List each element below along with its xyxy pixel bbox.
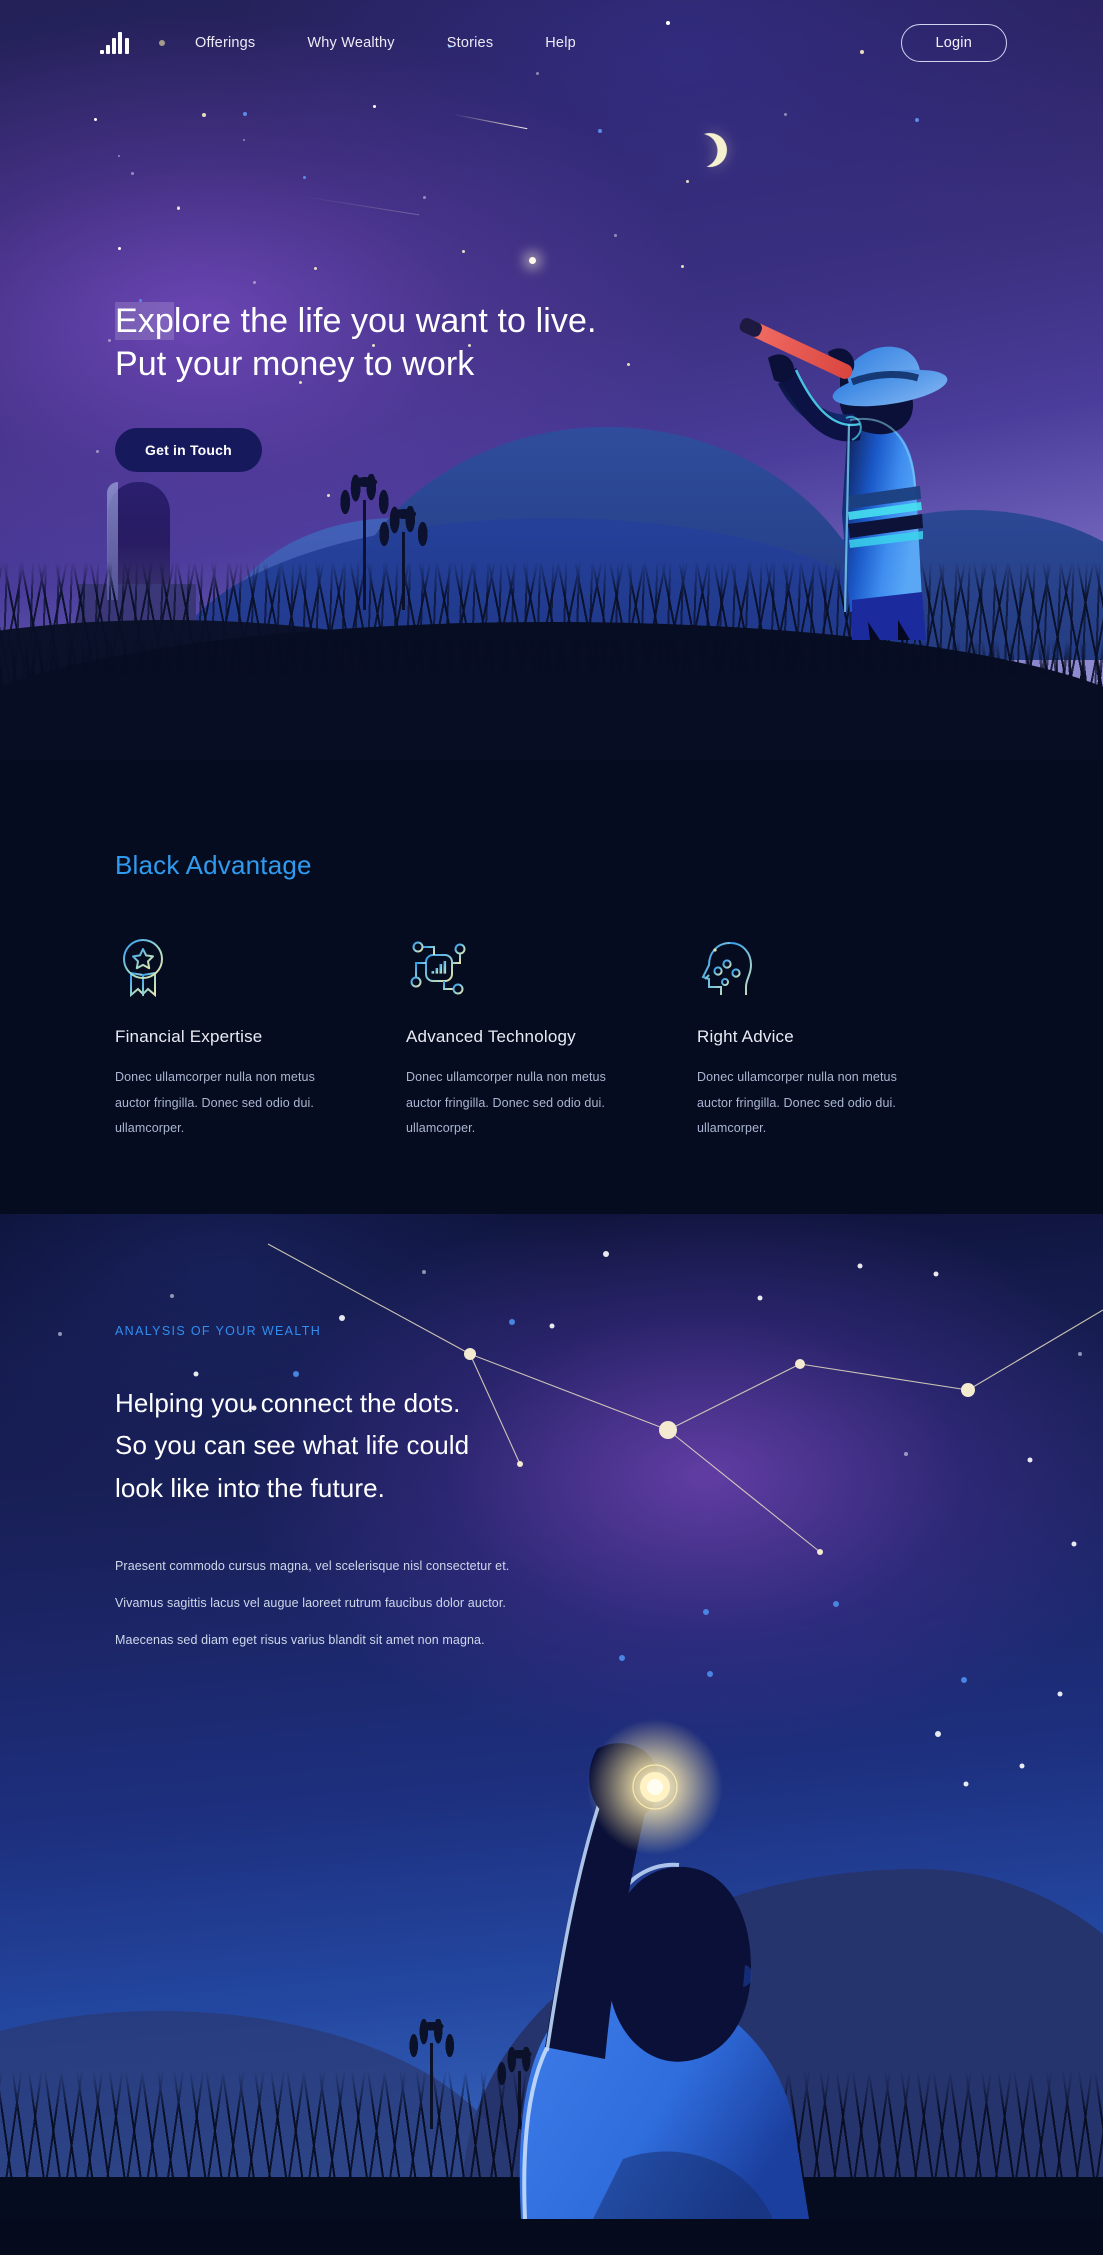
feature-body: Donec ullamcorper nulla non metus auctor… xyxy=(406,1065,611,1142)
feature-card-advanced-technology: Advanced Technology Donec ullamcorper nu… xyxy=(406,937,697,1142)
advantage-section: Black Advantage F xyxy=(0,760,1103,1214)
shooting-star-trail xyxy=(301,196,420,216)
hero-headline-line1-rest: lore the life you want to live. xyxy=(174,302,597,340)
nav-link-why-wealthy[interactable]: Why Wealthy xyxy=(307,35,394,51)
feature-card-financial-expertise: Financial Expertise Donec ullamcorper nu… xyxy=(115,937,406,1142)
login-button[interactable]: Login xyxy=(901,24,1007,62)
top-navigation: Offerings Why Wealthy Stories Help Login xyxy=(0,0,1103,86)
crescent-moon-icon xyxy=(689,129,730,170)
analysis-copy: ANALYSIS OF YOUR WEALTH Helping you conn… xyxy=(115,1324,509,1670)
hero-section: Offerings Why Wealthy Stories Help Login… xyxy=(0,0,1103,760)
nav-link-offerings[interactable]: Offerings xyxy=(195,35,255,51)
nav-links: Offerings Why Wealthy Stories Help xyxy=(195,35,576,51)
hero-headline-selected-text: Exp xyxy=(115,302,174,340)
shooting-star-icon xyxy=(453,114,528,130)
analysis-paragraph: Praesent commodo cursus magna, vel scele… xyxy=(115,1559,509,1574)
analysis-headline-line3: look like into the future. xyxy=(115,1473,385,1503)
analysis-section: ANALYSIS OF YOUR WEALTH Helping you conn… xyxy=(0,1214,1103,2219)
bright-star-icon xyxy=(529,257,536,264)
feature-body: Donec ullamcorper nulla non metus auctor… xyxy=(115,1065,320,1142)
nav-separator-dot xyxy=(159,40,165,46)
hero-copy: Explore the life you want to live. Put y… xyxy=(115,300,597,472)
bar-chart-logo-icon[interactable] xyxy=(100,32,129,54)
analysis-headline-line2: So you can see what life could xyxy=(115,1430,469,1460)
nav-link-stories[interactable]: Stories xyxy=(447,35,494,51)
head-circuit-icon xyxy=(697,937,988,999)
feature-list: Financial Expertise Donec ullamcorper nu… xyxy=(115,937,988,1142)
get-in-touch-button[interactable]: Get in Touch xyxy=(115,428,262,472)
analysis-headline-line1: Helping you connect the dots. xyxy=(115,1388,460,1418)
feature-card-right-advice: Right Advice Donec ullamcorper nulla non… xyxy=(697,937,988,1142)
page-footer-bar xyxy=(0,2219,1103,2255)
hero-headline: Explore the life you want to live. Put y… xyxy=(115,300,597,386)
reaching-figure-illustration xyxy=(473,1599,913,2219)
feature-title: Financial Expertise xyxy=(115,1027,406,1047)
analysis-paragraph: Maecenas sed diam eget risus varius blan… xyxy=(115,1633,509,1648)
processor-chip-icon xyxy=(406,937,697,999)
medal-star-icon xyxy=(115,937,406,999)
nav-link-help[interactable]: Help xyxy=(545,35,576,51)
feature-body: Donec ullamcorper nulla non metus auctor… xyxy=(697,1065,902,1142)
analysis-headline: Helping you connect the dots. So you can… xyxy=(115,1382,509,1509)
stargazer-illustration xyxy=(700,300,960,640)
analysis-paragraph: Vivamus sagittis lacus vel augue laoreet… xyxy=(115,1596,509,1611)
analysis-eyebrow: ANALYSIS OF YOUR WEALTH xyxy=(115,1324,509,1338)
analysis-paragraphs: Praesent commodo cursus magna, vel scele… xyxy=(115,1559,509,1648)
feature-title: Right Advice xyxy=(697,1027,988,1047)
feature-title: Advanced Technology xyxy=(406,1027,697,1047)
advantage-section-title: Black Advantage xyxy=(115,850,988,881)
landing-page: Offerings Why Wealthy Stories Help Login… xyxy=(0,0,1103,2255)
hero-headline-line2: Put your money to work xyxy=(115,345,474,383)
